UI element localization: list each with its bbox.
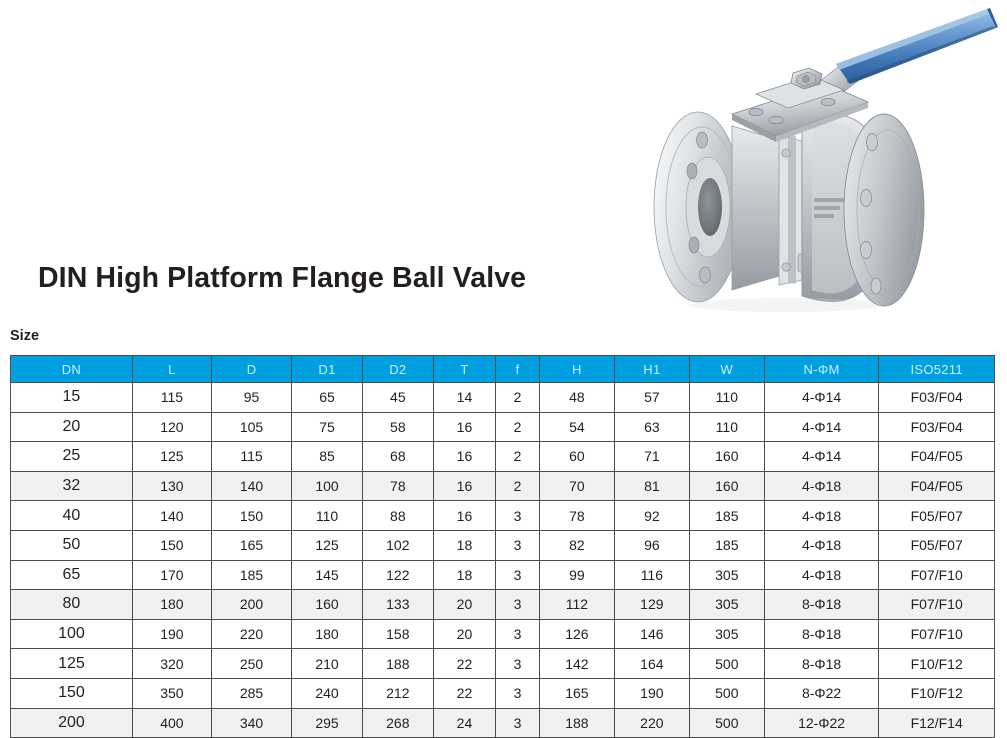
cell-nfm-dn25: 4-Φ14 [764,442,879,472]
ball-valve-illustration [636,2,1002,318]
cell-w-dn150: 500 [689,678,764,708]
table-row[interactable]: 20040034029526824318822050012-Φ22F12/F14 [11,708,995,738]
cell-h1-dn20: 63 [614,412,689,442]
table-row[interactable]: 1503502852402122231651905008-Φ22F10/F12 [11,678,995,708]
cell-f-dn125: 3 [496,649,540,679]
cell-dn-dn15: 15 [11,383,133,413]
cell-w-dn125: 500 [689,649,764,679]
cell-d-dn80: 200 [211,590,291,620]
cell-w-dn15: 110 [689,383,764,413]
cell-f-dn25: 2 [496,442,540,472]
right-flange-group [844,114,924,306]
cell-f-dn100: 3 [496,619,540,649]
cell-d2-dn32: 78 [362,471,433,501]
cell-d1-dn100: 180 [292,619,363,649]
cell-nfm-dn100: 8-Φ18 [764,619,879,649]
column-header-d1[interactable]: D1 [292,356,363,383]
table-row[interactable]: 1001902201801582031261463058-Φ18F07/F10 [11,619,995,649]
cell-iso5211-dn50: F05/F07 [879,530,995,560]
cell-d-dn32: 140 [211,471,291,501]
cell-iso5211-dn20: F03/F04 [879,412,995,442]
cell-l-dn125: 320 [132,649,211,679]
cell-f-dn150: 3 [496,678,540,708]
cell-dn-dn20: 20 [11,412,133,442]
cell-f-dn40: 3 [496,501,540,531]
cell-nfm-dn150: 8-Φ22 [764,678,879,708]
cell-dn-dn50: 50 [11,530,133,560]
cell-d2-dn40: 88 [362,501,433,531]
cell-d1-dn80: 160 [292,590,363,620]
cell-nfm-dn200: 12-Φ22 [764,708,879,738]
cell-d2-dn15: 45 [362,383,433,413]
cell-dn-dn25: 25 [11,442,133,472]
cell-w-dn200: 500 [689,708,764,738]
cell-h1-dn100: 146 [614,619,689,649]
cell-d1-dn15: 65 [292,383,363,413]
cell-d2-dn25: 68 [362,442,433,472]
cell-l-dn32: 130 [132,471,211,501]
cell-t-dn40: 16 [433,501,495,531]
cell-h-dn15: 48 [539,383,614,413]
column-header-w[interactable]: W [689,356,764,383]
table-header: DNLDD1D2TfHH1WN-ΦMISO5211 [11,356,995,383]
size-caption-label: Size [10,328,39,344]
cell-d-dn150: 285 [211,678,291,708]
cell-d2-dn125: 188 [362,649,433,679]
column-header-dn[interactable]: DN [11,356,133,383]
cell-d1-dn50: 125 [292,530,363,560]
table-row[interactable]: 401401501108816378921854-Φ18F05/F07 [11,501,995,531]
cell-nfm-dn20: 4-Φ14 [764,412,879,442]
cell-dn-dn200: 200 [11,708,133,738]
cell-l-dn25: 125 [132,442,211,472]
column-header-d[interactable]: D [211,356,291,383]
cell-h1-dn65: 116 [614,560,689,590]
cell-dn-dn32: 32 [11,471,133,501]
column-header-t[interactable]: T [433,356,495,383]
cell-iso5211-dn100: F07/F10 [879,619,995,649]
cell-l-dn50: 150 [132,530,211,560]
cell-h-dn125: 142 [539,649,614,679]
spec-table-container: DNLDD1D2TfHH1WN-ΦMISO5211 15115956545142… [10,355,995,738]
cell-nfm-dn15: 4-Φ14 [764,383,879,413]
cell-d2-dn50: 102 [362,530,433,560]
cell-h1-dn40: 92 [614,501,689,531]
cell-t-dn32: 16 [433,471,495,501]
cell-h1-dn25: 71 [614,442,689,472]
column-header-f[interactable]: f [496,356,540,383]
cell-l-dn65: 170 [132,560,211,590]
cell-h-dn100: 126 [539,619,614,649]
table-header-row: DNLDD1D2TfHH1WN-ΦMISO5211 [11,356,995,383]
cell-t-dn20: 16 [433,412,495,442]
cell-d2-dn100: 158 [362,619,433,649]
table-body: 1511595654514248571104-Φ14F03/F042012010… [11,383,995,738]
cell-d1-dn20: 75 [292,412,363,442]
cell-l-dn150: 350 [132,678,211,708]
cell-h-dn25: 60 [539,442,614,472]
column-header-h[interactable]: H [539,356,614,383]
cell-d1-dn65: 145 [292,560,363,590]
cell-d-dn50: 165 [211,530,291,560]
cell-d1-dn32: 100 [292,471,363,501]
cell-t-dn100: 20 [433,619,495,649]
cell-dn-dn100: 100 [11,619,133,649]
cell-d2-dn200: 268 [362,708,433,738]
cell-iso5211-dn150: F10/F12 [879,678,995,708]
cell-h1-dn200: 220 [614,708,689,738]
cell-f-dn200: 3 [496,708,540,738]
cell-nfm-dn80: 8-Φ18 [764,590,879,620]
cell-d2-dn65: 122 [362,560,433,590]
cell-w-dn40: 185 [689,501,764,531]
cell-dn-dn150: 150 [11,678,133,708]
cell-d2-dn20: 58 [362,412,433,442]
cell-d1-dn40: 110 [292,501,363,531]
cell-d-dn20: 105 [211,412,291,442]
cell-dn-dn125: 125 [11,649,133,679]
cell-d-dn65: 185 [211,560,291,590]
table-row[interactable]: 321301401007816270811604-Φ18F04/F05 [11,471,995,501]
cell-h1-dn50: 96 [614,530,689,560]
cell-h-dn65: 99 [539,560,614,590]
cell-nfm-dn32: 4-Φ18 [764,471,879,501]
cell-l-dn40: 140 [132,501,211,531]
cell-l-dn80: 180 [132,590,211,620]
cell-d-dn125: 250 [211,649,291,679]
cell-iso5211-dn15: F03/F04 [879,383,995,413]
cell-f-dn15: 2 [496,383,540,413]
cell-h-dn50: 82 [539,530,614,560]
cell-w-dn80: 305 [689,590,764,620]
page-title: DIN High Platform Flange Ball Valve [38,262,526,295]
cell-h1-dn150: 190 [614,678,689,708]
cell-w-dn25: 160 [689,442,764,472]
cell-l-dn200: 400 [132,708,211,738]
cell-d-dn200: 340 [211,708,291,738]
table-row[interactable]: 1253202502101882231421645008-Φ18F10/F12 [11,649,995,679]
cell-l-dn100: 190 [132,619,211,649]
cell-h-dn150: 165 [539,678,614,708]
cell-nfm-dn125: 8-Φ18 [764,649,879,679]
cell-d1-dn150: 240 [292,678,363,708]
cell-h1-dn32: 81 [614,471,689,501]
cell-t-dn50: 18 [433,530,495,560]
cell-iso5211-dn32: F04/F05 [879,471,995,501]
cell-dn-dn65: 65 [11,560,133,590]
cell-f-dn50: 3 [496,530,540,560]
cell-d-dn25: 115 [211,442,291,472]
cell-nfm-dn40: 4-Φ18 [764,501,879,531]
column-header-h1[interactable]: H1 [614,356,689,383]
cell-iso5211-dn25: F04/F05 [879,442,995,472]
cell-h-dn40: 78 [539,501,614,531]
left-flange-group [654,112,742,302]
table-row[interactable]: 65170185145122183991163054-Φ18F07/F10 [11,560,995,590]
cell-f-dn32: 2 [496,471,540,501]
table-row[interactable]: 1511595654514248571104-Φ14F03/F04 [11,383,995,413]
cell-iso5211-dn65: F07/F10 [879,560,995,590]
cell-d-dn15: 95 [211,383,291,413]
cell-t-dn65: 18 [433,560,495,590]
column-header-l[interactable]: L [132,356,211,383]
cell-t-dn150: 22 [433,678,495,708]
table-row[interactable]: 20120105755816254631104-Φ14F03/F04 [11,412,995,442]
table-row[interactable]: 5015016512510218382961854-Φ18F05/F07 [11,530,995,560]
cell-dn-dn40: 40 [11,501,133,531]
cell-h-dn32: 70 [539,471,614,501]
cell-t-dn125: 22 [433,649,495,679]
cell-iso5211-dn200: F12/F14 [879,708,995,738]
column-header-d2[interactable]: D2 [362,356,433,383]
cell-h-dn200: 188 [539,708,614,738]
cell-d2-dn80: 133 [362,590,433,620]
column-header-n-m[interactable]: N-ΦM [764,356,879,383]
cell-w-dn65: 305 [689,560,764,590]
cell-h1-dn15: 57 [614,383,689,413]
cell-f-dn80: 3 [496,590,540,620]
table-row[interactable]: 25125115856816260711604-Φ14F04/F05 [11,442,995,472]
cell-iso5211-dn80: F07/F10 [879,590,995,620]
cell-w-dn32: 160 [689,471,764,501]
cell-d1-dn25: 85 [292,442,363,472]
cell-h-dn20: 54 [539,412,614,442]
cell-d1-dn200: 295 [292,708,363,738]
cell-t-dn80: 20 [433,590,495,620]
cell-t-dn15: 14 [433,383,495,413]
product-image [636,2,1002,318]
cell-nfm-dn50: 4-Φ18 [764,530,879,560]
cell-h1-dn80: 129 [614,590,689,620]
table-row[interactable]: 801802001601332031121293058-Φ18F07/F10 [11,590,995,620]
cell-nfm-dn65: 4-Φ18 [764,560,879,590]
cell-t-dn200: 24 [433,708,495,738]
cell-d2-dn150: 212 [362,678,433,708]
cell-iso5211-dn125: F10/F12 [879,649,995,679]
cell-w-dn50: 185 [689,530,764,560]
cell-iso5211-dn40: F05/F07 [879,501,995,531]
cell-w-dn20: 110 [689,412,764,442]
cell-f-dn20: 2 [496,412,540,442]
column-header-iso5211[interactable]: ISO5211 [879,356,995,383]
cell-f-dn65: 3 [496,560,540,590]
cell-h1-dn125: 164 [614,649,689,679]
cell-w-dn100: 305 [689,619,764,649]
cell-h-dn80: 112 [539,590,614,620]
cell-d1-dn125: 210 [292,649,363,679]
cell-d-dn40: 150 [211,501,291,531]
valve-size-specification-table: DNLDD1D2TfHH1WN-ΦMISO5211 15115956545142… [10,355,995,738]
cell-dn-dn80: 80 [11,590,133,620]
cell-l-dn20: 120 [132,412,211,442]
cell-d-dn100: 220 [211,619,291,649]
cell-t-dn25: 16 [433,442,495,472]
cell-l-dn15: 115 [132,383,211,413]
